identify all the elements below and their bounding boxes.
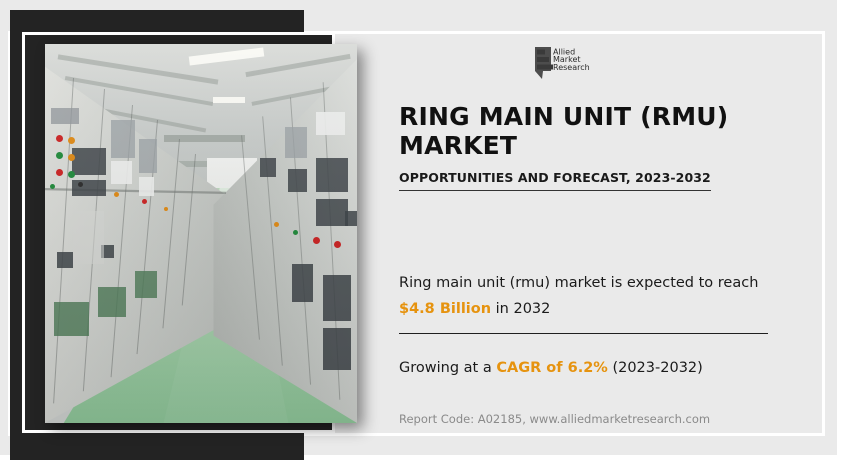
cagr-prefix: Growing at a (399, 360, 496, 376)
cagr-line: Growing at a CAGR of 6.2% (2023-2032) (399, 355, 779, 381)
cagr-statement: Growing at a CAGR of 6.2% (2023-2032) (399, 355, 779, 381)
page-title: RING MAIN UNIT (RMU) MARKET (399, 102, 729, 160)
photo-tone-overlay (45, 44, 357, 423)
logo-icon: Allied Market Research (531, 45, 611, 89)
hero-photo-inner (45, 44, 357, 423)
svg-text:Research: Research (553, 63, 590, 72)
market-value-statement: Ring main unit (rmu) market is expected … (399, 270, 769, 322)
hero-photo (45, 44, 357, 423)
market-value-prefix: Ring main unit (rmu) market is expected … (399, 275, 758, 291)
cagr-highlight: CAGR of 6.2% (496, 360, 608, 376)
cagr-suffix: (2023-2032) (608, 360, 703, 376)
market-value-highlight: $4.8 Billion (399, 301, 491, 317)
market-value-suffix: in 2032 (491, 301, 550, 317)
market-value-line: Ring main unit (rmu) market is expected … (399, 270, 769, 322)
page-subtitle: OPPORTUNITIES AND FORECAST, 2023-2032 (399, 170, 711, 191)
allied-market-research-logo: Allied Market Research (531, 45, 611, 89)
content-column: Allied Market Research RING MAIN UNIT (R… (399, 40, 799, 430)
section-divider (399, 333, 768, 334)
report-code-note: Report Code: A02185, www.alliedmarketres… (399, 412, 710, 426)
promo-banner: Allied Market Research RING MAIN UNIT (R… (0, 0, 847, 470)
